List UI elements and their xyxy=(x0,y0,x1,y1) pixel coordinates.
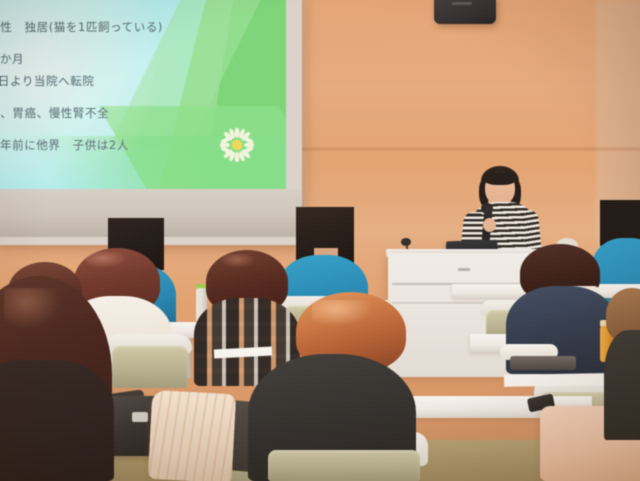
hair-highlight xyxy=(312,300,372,326)
slide-line-1: 歳 女性 独居(猫を1匹飼っている) xyxy=(0,22,163,34)
presenter-bangs xyxy=(484,172,516,185)
projection-screen: 、 歳 女性 独居(猫を1匹飼っている) 4年11か月 3月22日より当院へ転院… xyxy=(0,0,302,245)
cream-coat xyxy=(148,390,237,481)
hair-highlight xyxy=(4,288,60,328)
dark-folder xyxy=(510,356,576,370)
slide-line-3: 3月22日より当院へ転院 xyxy=(0,76,94,88)
handout-paper xyxy=(504,373,604,387)
chair xyxy=(112,346,188,388)
presenter-hand xyxy=(483,218,496,232)
slide-line-2: 4年11か月 xyxy=(0,54,24,66)
podium-label xyxy=(458,268,470,271)
attendee-dark-long-hair xyxy=(0,360,114,481)
chair xyxy=(268,450,420,481)
attendee-right-edge xyxy=(604,330,640,440)
hair-highlight xyxy=(86,252,128,268)
slide-line-5: 夫は10年前に他界 子供は2人 xyxy=(0,140,129,152)
slide-text-block: 、 歳 女性 独居(猫を1匹飼っている) 4年11か月 3月22日より当院へ転院… xyxy=(0,0,286,191)
seminar-room-photo: 、 歳 女性 独居(猫を1匹飼っている) 4年11か月 3月22日より当院へ転院… xyxy=(0,0,640,481)
presentation-slide: 、 歳 女性 独居(猫を1匹飼っている) 4年11か月 3月22日より当院へ転院… xyxy=(0,0,286,191)
wall-seam-line xyxy=(300,148,640,150)
bag-tag xyxy=(132,412,148,422)
hair-highlight xyxy=(222,254,256,268)
slide-line-4: 高血圧、胃癌、慢性腎不全 xyxy=(0,108,109,120)
speaker-grill xyxy=(452,2,472,5)
